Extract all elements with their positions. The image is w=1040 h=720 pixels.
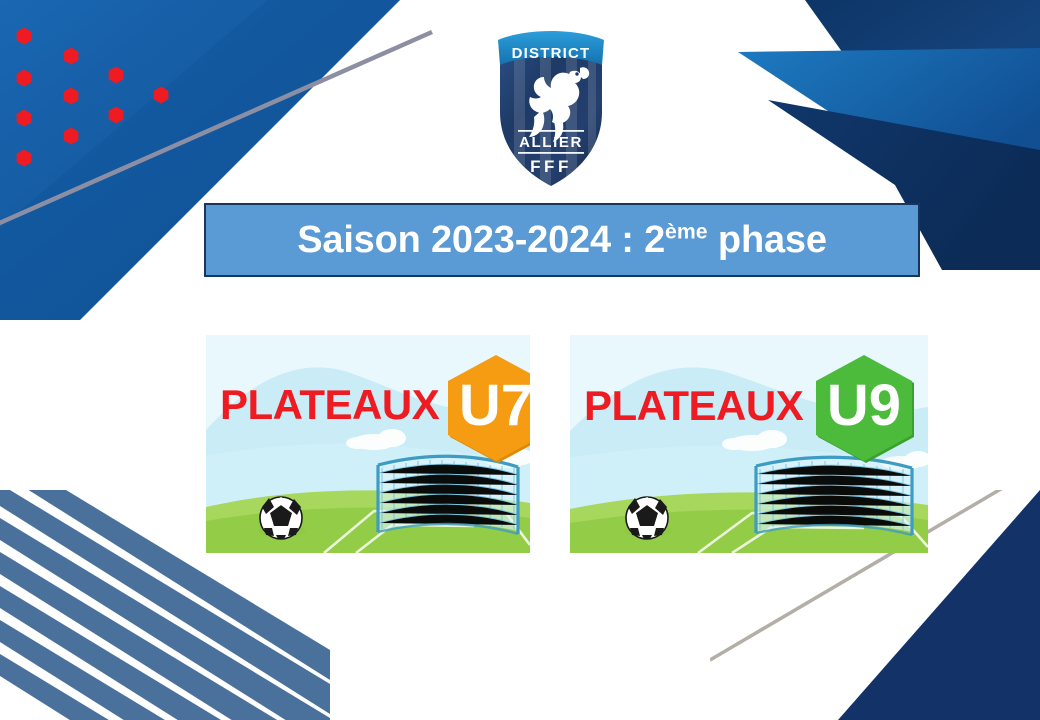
plateaux-u9-card[interactable]: PLATEAUX U9 [570,335,928,553]
bl-stripe-7 [0,654,330,720]
tl-gray-line [0,32,432,225]
red-hexagon-dot-2 [17,70,32,87]
slide-canvas: DISTRICT ALLIER FFF Saison 2023-2024 : 2… [0,0,1040,720]
u7-plateaux-label: PLATEAUX [220,381,440,428]
red-hexagon-dot-10 [154,87,169,104]
u9-plateaux-label: PLATEAUX [584,382,804,429]
logo-fff-text: FFF [530,157,572,176]
red-hexagon-dot-8 [109,67,124,84]
title-suffix: phase [708,219,827,261]
red-hexagon-dots [17,28,169,167]
bl-stripe-5 [0,586,330,720]
plateaux-u7-card[interactable]: PLATEAUX U7 [206,335,530,553]
district-allier-fff-logo: DISTRICT ALLIER FFF [492,20,610,190]
u9-goal [756,457,913,535]
u9-badge-label: U9 [827,373,901,438]
logo-allier-text: ALLIER [519,134,583,151]
bl-stripe-6 [0,620,330,720]
red-hexagon-dot-9 [109,107,124,124]
page-title: Saison 2023-2024 : 2ème phase [297,219,827,262]
u7-card-graphic: PLATEAUX U7 [206,335,530,553]
tr-blue-blade-mid [738,48,1040,178]
logo-rule-top [518,130,584,132]
red-hexagon-dot-4 [17,150,32,167]
title-prefix: Saison 2023-2024 : 2 [297,219,665,261]
red-hexagon-dot-6 [64,88,79,105]
logo-banner-text: DISTRICT [512,45,591,62]
title-superscript: ème [665,219,708,243]
logo-rule-bottom [518,152,584,154]
red-hexagon-dot-5 [64,48,79,65]
bl-stripe-4 [0,552,330,720]
red-hexagon-dot-7 [64,128,79,145]
u9-card-graphic: PLATEAUX U9 [570,335,928,553]
u7-goal [378,456,519,534]
red-hexagon-dot-3 [17,110,32,127]
tr-navy-blade-top [805,0,1040,62]
season-title-banner: Saison 2023-2024 : 2ème phase [204,203,920,277]
u7-badge-label: U7 [459,373,530,438]
red-hexagon-dot-1 [17,28,32,45]
